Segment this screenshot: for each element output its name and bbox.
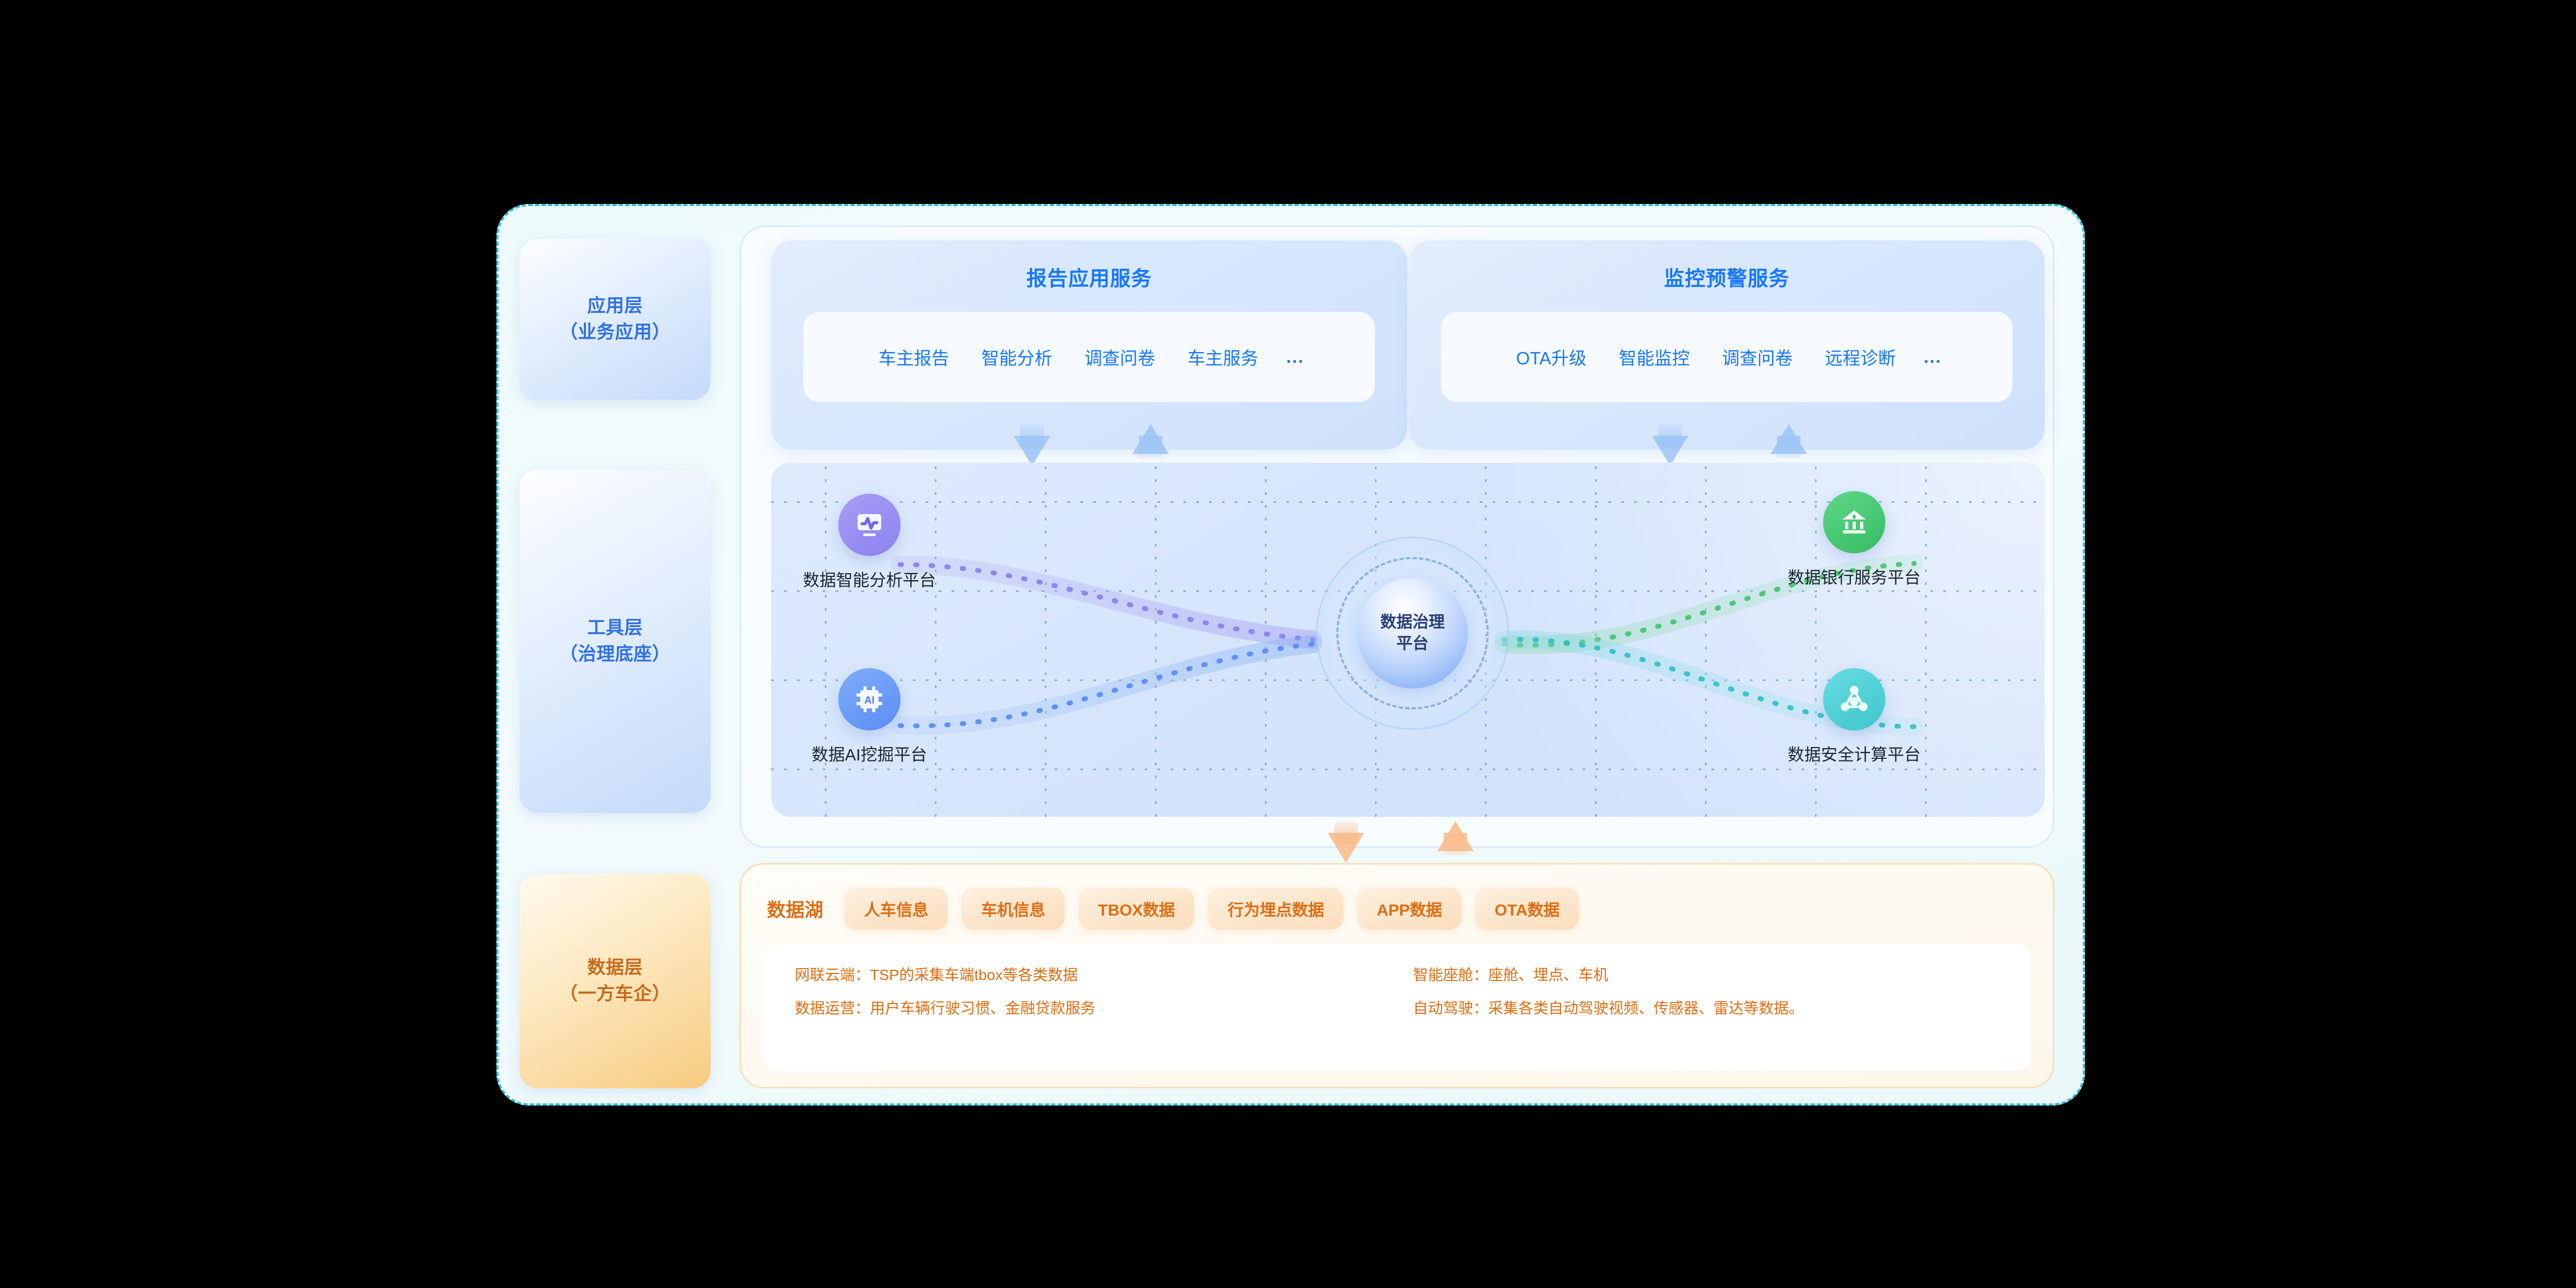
service-tag[interactable]: 调查问卷 — [1069, 344, 1172, 370]
description-line: 数据运营：用户车辆行驶习惯、金融贷款服务 — [795, 1001, 1381, 1016]
service-tag[interactable]: 智能分析 — [965, 344, 1069, 370]
layer-chip-tool: 工具层 （治理底座） — [519, 470, 711, 813]
service-tag[interactable]: 远程诊断 — [1809, 344, 1912, 370]
layer-chip-data: 数据层 （一方车企） — [519, 874, 711, 1088]
data-lake-tag[interactable]: 行为埋点数据 — [1208, 888, 1343, 930]
service-card-monitor[interactable]: 监控预警服务 OTA升级 智能监控 调查问卷 远程诊断 ... — [1409, 240, 2045, 450]
monitor-pulse-icon — [838, 494, 901, 556]
service-card-title: 报告应用服务 — [771, 262, 1407, 291]
description-line: 自动驾驶：采集各类自动驾驶视频、传感器、雷达等数据。 — [1413, 1001, 1999, 1016]
data-lake-tag[interactable]: TBOX数据 — [1079, 888, 1194, 930]
platform-label: 数据安全计算平台 — [1788, 741, 1921, 765]
layer-chip-title: 数据层 — [587, 955, 643, 981]
service-tag[interactable]: OTA升级 — [1500, 344, 1602, 370]
service-tag-more[interactable]: ... — [1275, 347, 1316, 367]
service-tag[interactable]: 智能监控 — [1602, 344, 1706, 370]
description-column-left: 网联云端：TSP的采集车端tbox等各类数据 数据运营：用户车辆行驶习惯、金融贷… — [795, 968, 1381, 1047]
flow-arrow-down-app-to-tool — [1014, 436, 1050, 466]
service-tag[interactable]: 调查问卷 — [1706, 344, 1809, 370]
platform-node-analysis[interactable]: 数据智能分析平台 — [808, 494, 931, 591]
data-source-description-box: 网联云端：TSP的采集车端tbox等各类数据 数据运营：用户车辆行驶习惯、金融贷… — [763, 944, 2031, 1071]
data-lake-tag[interactable]: OTA数据 — [1475, 888, 1579, 930]
layer-chip-title: 应用层 — [587, 293, 643, 319]
platform-label: 数据银行服务平台 — [1788, 564, 1921, 588]
data-lake-tag[interactable]: 车机信息 — [962, 888, 1065, 930]
service-tag[interactable]: 车主报告 — [862, 344, 965, 370]
description-column-right: 智能座舱：座舱、埋点、车机 自动驾驶：采集各类自动驾驶视频、传感器、雷达等数据。 — [1381, 968, 1999, 1047]
platform-node-data-bank[interactable]: 数据银行服务平台 — [1792, 491, 1916, 588]
platform-node-ai-mining[interactable]: AI 数据AI挖掘平台 — [808, 668, 931, 765]
hub-title-line1: 数据治理 — [1380, 612, 1445, 633]
service-tag[interactable]: 车主服务 — [1172, 344, 1275, 370]
service-card-title: 监控预警服务 — [1409, 262, 2045, 291]
hub-core[interactable]: 数据治理 平台 — [1357, 578, 1468, 689]
layer-chip-application: 应用层 （业务应用） — [519, 239, 711, 400]
data-lake-row: 数据湖 人车信息 车机信息 TBOX数据 行为埋点数据 APP数据 OTA数据 — [767, 884, 2027, 933]
data-lake-tag[interactable]: APP数据 — [1357, 888, 1461, 930]
platform-label: 数据AI挖掘平台 — [811, 741, 927, 765]
share-nodes-icon — [1823, 668, 1885, 730]
layer-chip-subtitle: （业务应用） — [560, 319, 671, 346]
hub-title-line2: 平台 — [1396, 633, 1429, 655]
service-tag-list: OTA升级 智能监控 调查问卷 远程诊断 ... — [1441, 312, 2012, 402]
ai-chip-icon: AI — [838, 668, 901, 730]
flow-arrow-down-tool-to-data — [1328, 833, 1364, 863]
service-card-report[interactable]: 报告应用服务 车主报告 智能分析 调查问卷 车主服务 ... — [771, 240, 1407, 450]
flow-arrow-down-app-to-tool — [1652, 436, 1688, 466]
platform-node-secure-compute[interactable]: 数据安全计算平台 — [1792, 668, 1916, 765]
flow-arrow-up-tool-to-app — [1770, 424, 1807, 454]
layer-chip-title: 工具层 — [587, 615, 643, 641]
service-tag-list: 车主报告 智能分析 调查问卷 车主服务 ... — [803, 312, 1375, 402]
service-tag-more[interactable]: ... — [1912, 347, 1953, 367]
layer-chip-subtitle: （治理底座） — [560, 641, 671, 668]
data-lake-title: 数据湖 — [767, 895, 823, 923]
data-layer-panel: 数据湖 人车信息 车机信息 TBOX数据 行为埋点数据 APP数据 OTA数据 … — [740, 863, 2054, 1088]
bank-icon — [1823, 491, 1885, 553]
flow-arrow-up-data-to-tool — [1437, 821, 1474, 851]
central-hub[interactable]: 数据治理 平台 — [1316, 537, 1509, 730]
description-line: 网联云端：TSP的采集车端tbox等各类数据 — [795, 968, 1381, 983]
data-lake-tag[interactable]: 人车信息 — [845, 888, 948, 930]
svg-text:AI: AI — [865, 695, 875, 706]
description-line: 智能座舱：座舱、埋点、车机 — [1413, 968, 1999, 983]
layer-chip-subtitle: （一方车企） — [560, 981, 671, 1007]
platform-label: 数据智能分析平台 — [803, 567, 936, 591]
flow-arrow-up-tool-to-app — [1132, 424, 1169, 454]
